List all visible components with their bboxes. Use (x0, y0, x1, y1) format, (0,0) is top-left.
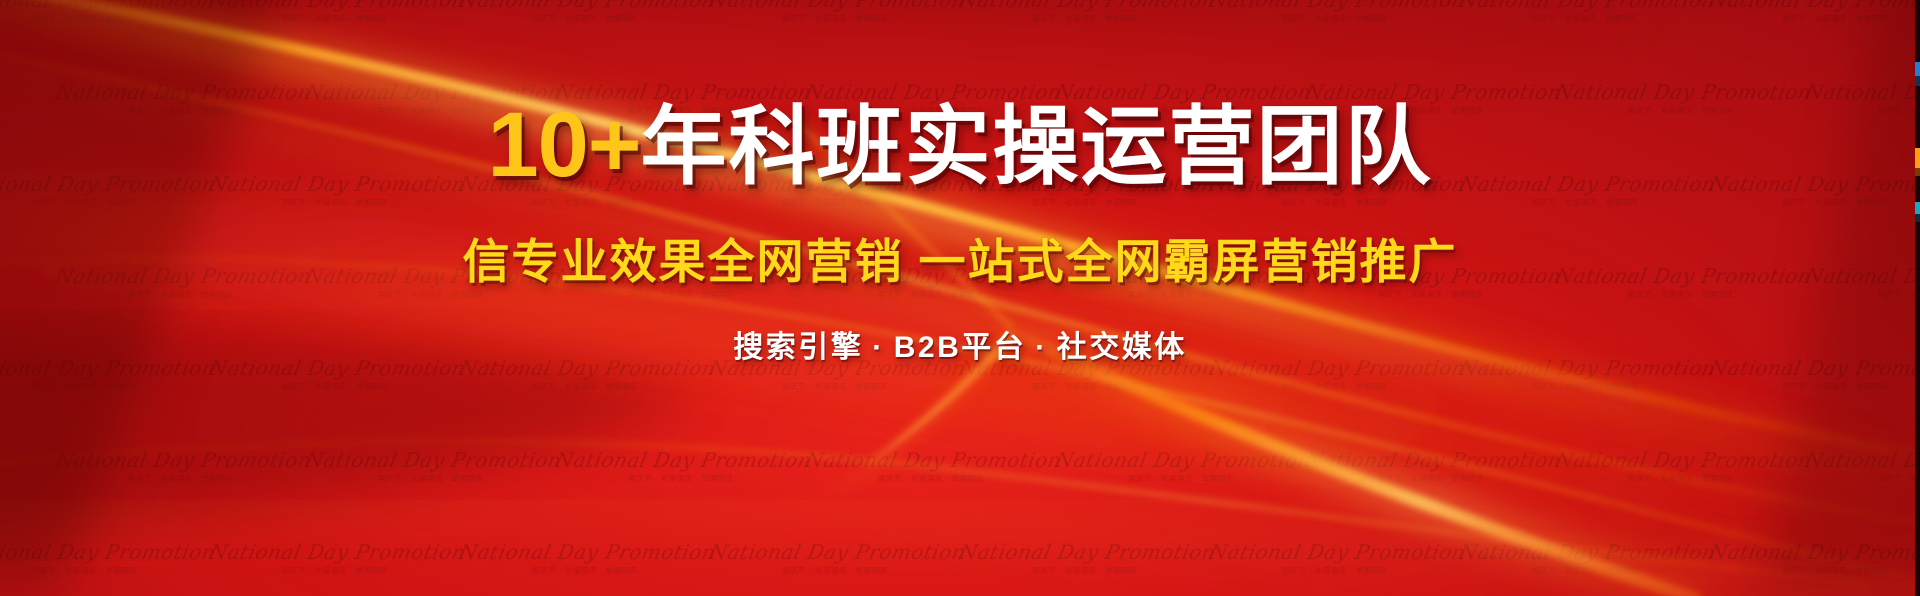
tagline-separator-2: · (1026, 331, 1057, 364)
edge-sliver-segment (1915, 214, 1920, 222)
tagline-item-3: 社交媒体 (1057, 331, 1187, 364)
headline-number: 10+ (487, 94, 640, 196)
promo-banner: National Day Promotion国庆节 · 欢度国庆 · 举国同庆N… (0, 0, 1920, 596)
headline: 10+年科班实操运营团队 (487, 96, 1432, 195)
edge-sliver-segment (1915, 76, 1920, 86)
subheadline: 信专业效果全网营销 一站式全网霸屏营销推广 (462, 223, 1457, 292)
edge-sliver-segment (1915, 62, 1920, 76)
right-edge-sliver (1915, 0, 1920, 596)
tagline: 搜索引擎·B2B平台·社交媒体 (733, 322, 1187, 366)
edge-sliver-segment (1915, 202, 1920, 214)
headline-text: 年科班实操运营团队 (641, 99, 1433, 195)
edge-sliver-segment (1915, 0, 1920, 62)
edge-sliver-segment (1915, 168, 1920, 176)
edge-sliver-segment (1915, 222, 1920, 596)
tagline-separator-1: · (863, 331, 894, 364)
edge-sliver-segment (1915, 86, 1920, 148)
edge-sliver-segment (1915, 148, 1920, 168)
banner-text-block: 10+年科班实操运营团队 信专业效果全网营销 一站式全网霸屏营销推广 搜索引擎·… (0, 0, 1920, 596)
edge-sliver-segment (1915, 176, 1920, 202)
tagline-item-2: B2B平台 (894, 331, 1027, 364)
tagline-item-1: 搜索引擎 (733, 331, 863, 364)
